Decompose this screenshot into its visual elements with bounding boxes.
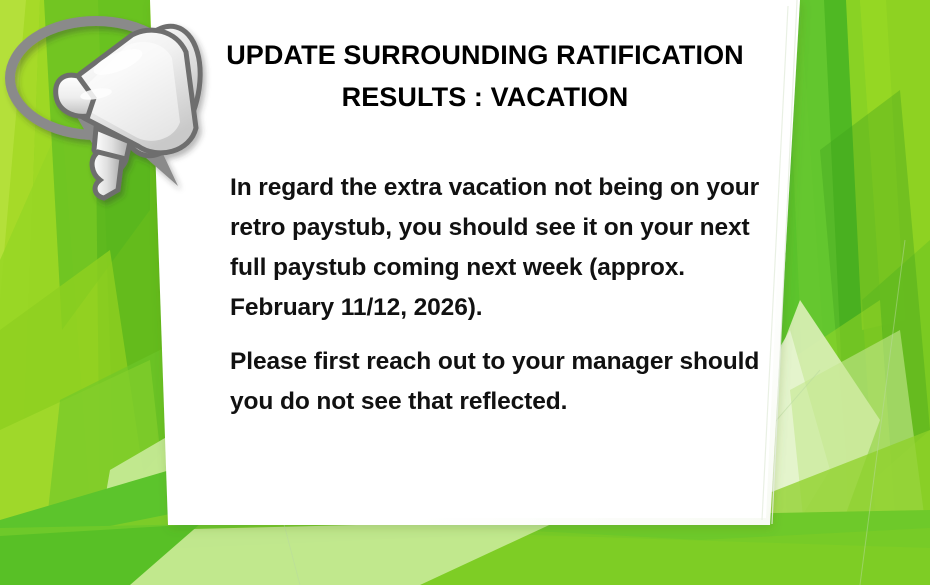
slide: UPDATE SURROUNDING RATIFICATION RESULTS … bbox=[0, 0, 930, 585]
body-text: In regard the extra vacation not being o… bbox=[230, 168, 760, 422]
slide-content: UPDATE SURROUNDING RATIFICATION RESULTS … bbox=[175, 0, 795, 525]
paragraph-2: Please first reach out to your manager s… bbox=[230, 342, 760, 422]
page-title: UPDATE SURROUNDING RATIFICATION RESULTS … bbox=[185, 34, 785, 118]
title-line-1: UPDATE SURROUNDING RATIFICATION bbox=[185, 34, 785, 76]
title-line-2: RESULTS : VACATION bbox=[185, 76, 785, 118]
paragraph-1: In regard the extra vacation not being o… bbox=[230, 168, 760, 328]
